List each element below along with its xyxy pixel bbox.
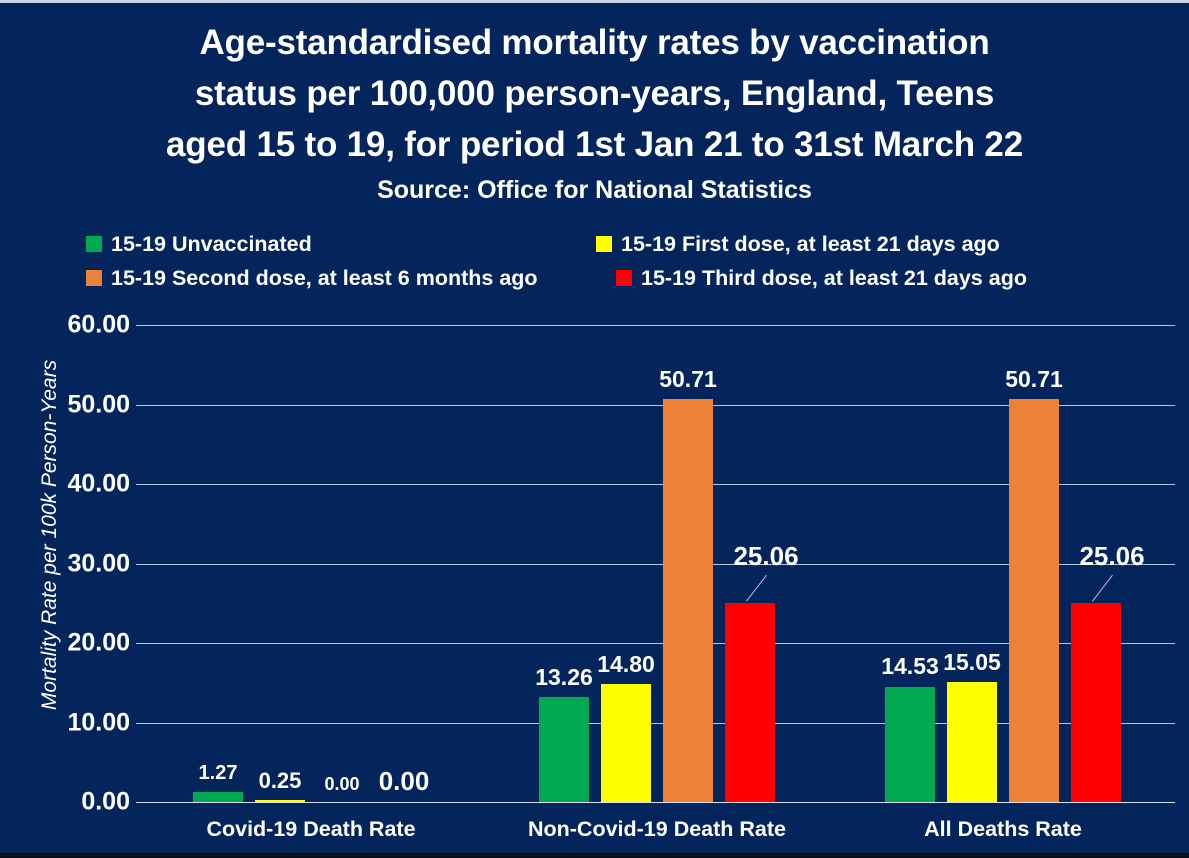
- bar-value-label: 25.06: [733, 541, 798, 572]
- x-axis-label-0: Covid-19 Death Rate: [206, 817, 415, 842]
- bar-0-0[interactable]: [193, 792, 243, 802]
- bar-value-label: 0.00: [324, 774, 359, 795]
- x-axis-label-2: All Deaths Rate: [924, 817, 1082, 842]
- bar-value-label: 13.26: [535, 664, 593, 691]
- bar-value-label: 15.05: [943, 649, 1001, 676]
- bar-value-label: 14.80: [597, 651, 655, 678]
- bar-value-label: 50.71: [659, 366, 717, 393]
- value-label-leader-line: [1092, 575, 1113, 602]
- value-label-leader-line: [746, 575, 767, 602]
- bar-2-2[interactable]: [1009, 399, 1059, 802]
- bar-value-label: 0.00: [379, 766, 430, 797]
- x-axis-label-1: Non-Covid-19 Death Rate: [528, 817, 786, 842]
- bar-2-0[interactable]: [885, 687, 935, 803]
- bar-value-label: 1.27: [199, 762, 238, 785]
- bar-0-1[interactable]: [255, 800, 305, 802]
- bar-1-2[interactable]: [663, 399, 713, 802]
- bar-value-label: 50.71: [1005, 366, 1063, 393]
- bar-1-1[interactable]: [601, 684, 651, 802]
- chart-container: Age-standardised mortality rates by vacc…: [0, 0, 1189, 858]
- bars-layer: 1.270.250.000.0013.2614.8050.7125.0614.5…: [0, 3, 1189, 858]
- bar-value-label: 25.06: [1079, 541, 1144, 572]
- bar-value-label: 0.25: [259, 768, 302, 794]
- bar-2-3[interactable]: [1071, 603, 1121, 802]
- bar-1-3[interactable]: [725, 603, 775, 802]
- plot-area: Mortality Rate per 100k Person-Years 0.0…: [0, 3, 1189, 858]
- bar-1-0[interactable]: [539, 697, 589, 802]
- bar-2-1[interactable]: [947, 682, 997, 802]
- bar-value-label: 14.53: [881, 653, 939, 680]
